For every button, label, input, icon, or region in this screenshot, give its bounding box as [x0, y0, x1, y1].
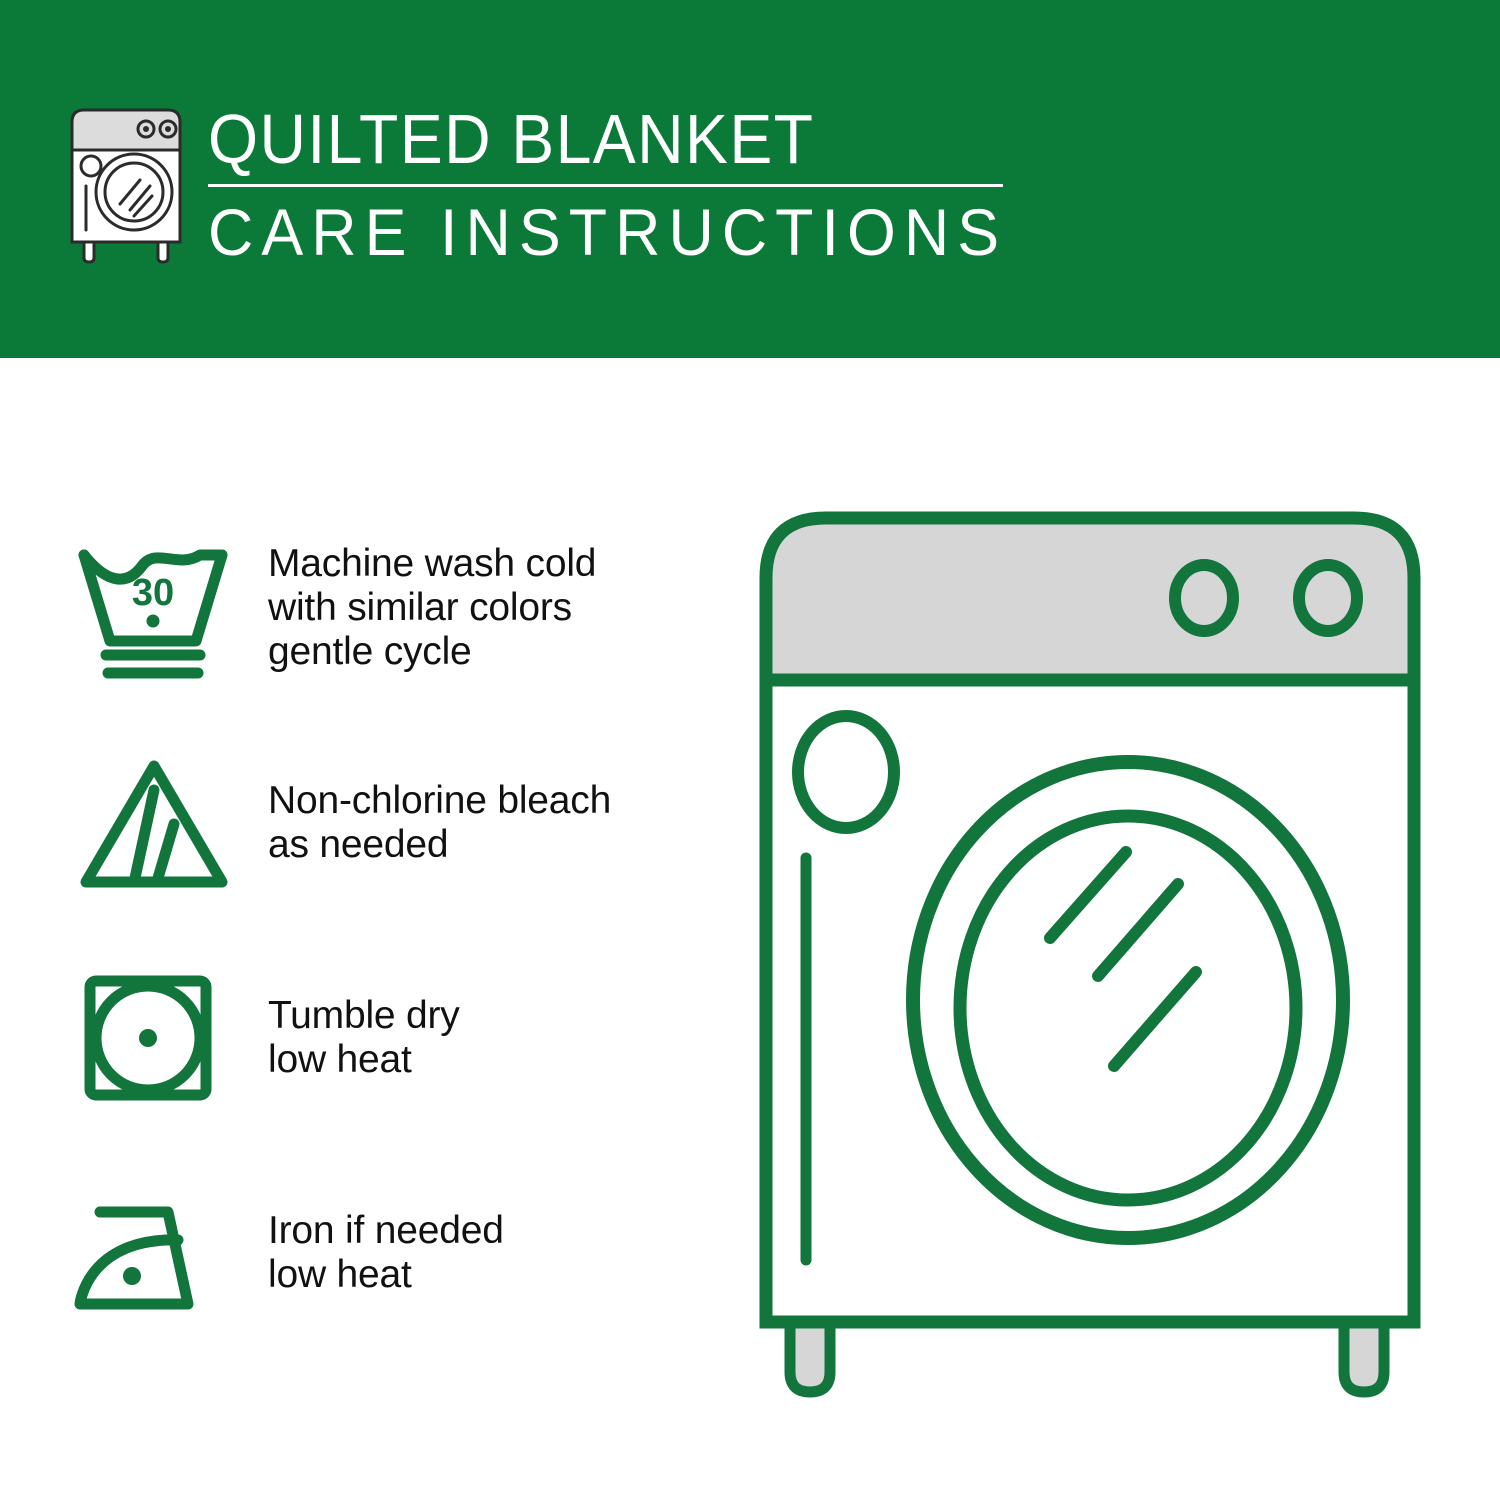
instruction-text: Machine wash cold with similar colors ge… — [268, 542, 596, 674]
instruction-line: Machine wash cold — [268, 542, 596, 586]
instruction-line: as needed — [268, 823, 611, 867]
instruction-list: 30 Machine wash cold with similar colors… — [70, 500, 710, 1360]
instruction-line: Tumble dry — [268, 994, 460, 1038]
list-item: 30 Machine wash cold with similar colors… — [70, 500, 710, 715]
list-item: Non-chlorine bleach as needed — [70, 715, 710, 930]
iron-low-heat-icon — [70, 1173, 240, 1333]
instruction-text: Non-chlorine bleach as needed — [268, 779, 611, 867]
instruction-text: Iron if needed low heat — [268, 1209, 504, 1297]
instruction-line: low heat — [268, 1038, 460, 1082]
page-subtitle: CARE INSTRUCTIONS — [208, 197, 1007, 267]
instruction-line: gentle cycle — [268, 630, 596, 674]
instruction-text: Tumble dry low heat — [268, 994, 460, 1082]
washing-machine-icon — [62, 96, 190, 264]
wash-temp-label: 30 — [132, 572, 174, 614]
bleach-triangle-icon — [70, 743, 240, 903]
header-banner: QUILTED BLANKET CARE INSTRUCTIONS — [0, 0, 1500, 358]
tumble-dry-low-icon — [70, 958, 240, 1118]
instruction-line: Non-chlorine bleach — [268, 779, 611, 823]
instruction-line: with similar colors — [268, 586, 596, 630]
front-load-washing-machine-illustration — [748, 500, 1448, 1430]
title-block: QUILTED BLANKET CARE INSTRUCTIONS — [208, 96, 1049, 267]
list-item: Tumble dry low heat — [70, 930, 710, 1145]
title-divider — [208, 184, 1003, 187]
page-title: QUILTED BLANKET — [208, 102, 982, 176]
iron-low-heat-row: Iron if needed low heat — [70, 1145, 710, 1360]
wash-tub-30-icon: 30 — [70, 528, 240, 688]
header-content: QUILTED BLANKET CARE INSTRUCTIONS — [62, 96, 1049, 267]
instruction-line: Iron if needed — [268, 1209, 504, 1253]
instruction-line: low heat — [268, 1253, 504, 1297]
